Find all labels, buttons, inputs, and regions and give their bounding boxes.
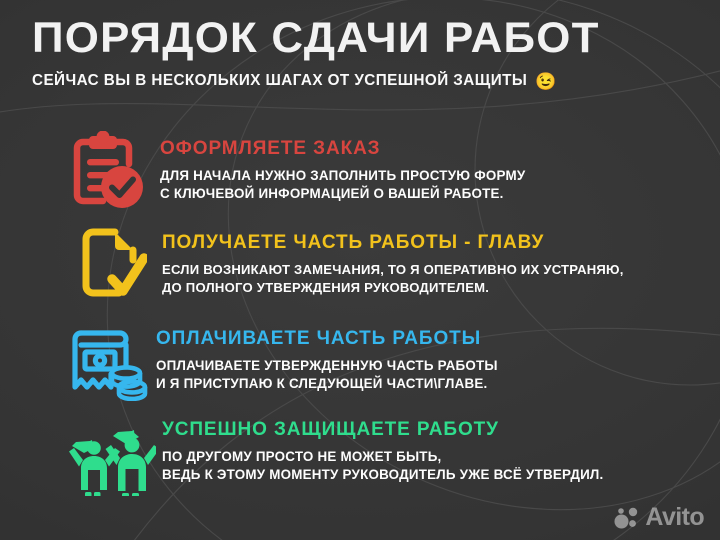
step-line: ДО ПОЛНОГО УТВЕРЖДЕНИЯ РУКОВОДИТЕЛЕМ.	[162, 279, 624, 297]
step-body: УСПЕШНО ЗАЩИЩАЕТЕ РАБОТУ ПО ДРУГОМУ ПРОС…	[162, 416, 603, 483]
clipboard-check-icon	[64, 131, 150, 219]
step-line: И Я ПРИСТУПАЮ К СЛЕДУЮЩЕЙ ЧАСТИ\ГЛАВЕ.	[156, 375, 498, 393]
step-heading: ОФОРМЛЯЕТЕ ЗАКАЗ	[160, 138, 525, 160]
poster-header: ПОРЯДОК СДАЧИ РАБОТ СЕЙЧАС ВЫ В НЕСКОЛЬК…	[32, 14, 688, 90]
step-body: ПОЛУЧАЕТЕ ЧАСТЬ РАБОТЫ - ГЛАВУ ЕСЛИ ВОЗН…	[162, 226, 624, 296]
step-item: ОФОРМЛЯЕТЕ ЗАКАЗ ДЛЯ НАЧАЛА НУЖНО ЗАПОЛН…	[0, 131, 720, 226]
step-heading: ПОЛУЧАЕТЕ ЧАСТЬ РАБОТЫ - ГЛАВУ	[162, 232, 624, 254]
step-heading: ОПЛАЧИВАЕТЕ ЧАСТЬ РАБОТЫ	[156, 328, 498, 350]
step-item: ОПЛАЧИВАЕТЕ ЧАСТЬ РАБОТЫ ОПЛАЧИВАЕТЕ УТВ…	[0, 321, 720, 416]
step-line: ДЛЯ НАЧАЛА НУЖНО ЗАПОЛНИТЬ ПРОСТУЮ ФОРМУ	[160, 167, 525, 185]
subtitle-row: СЕЙЧАС ВЫ В НЕСКОЛЬКИХ ШАГАХ ОТ УСПЕШНОЙ…	[32, 72, 688, 90]
step-item: ПОЛУЧАЕТЕ ЧАСТЬ РАБОТЫ - ГЛАВУ ЕСЛИ ВОЗН…	[0, 226, 720, 321]
winking-face-emoji: 😉	[535, 73, 556, 90]
step-line: ВЕДЬ К ЭТОМУ МОМЕНТУ РУКОВОДИТЕЛЬ УЖЕ ВС…	[162, 466, 603, 484]
step-line: С КЛЮЧЕВОЙ ИНФОРМАЦИЕЙ О ВАШЕЙ РАБОТЕ.	[160, 185, 525, 203]
avito-logo-icon	[614, 507, 640, 529]
promo-poster: ПОРЯДОК СДАЧИ РАБОТ СЕЙЧАС ВЫ В НЕСКОЛЬК…	[0, 0, 720, 540]
step-item: УСПЕШНО ЗАЩИЩАЕТЕ РАБОТУ ПО ДРУГОМУ ПРОС…	[0, 416, 720, 511]
step-line: ОПЛАЧИВАЕТЕ УТВЕРЖДЕННУЮ ЧАСТЬ РАБОТЫ	[156, 357, 498, 375]
receipt-money-icon	[66, 321, 150, 409]
step-body: ОПЛАЧИВАЕТЕ ЧАСТЬ РАБОТЫ ОПЛАЧИВАЕТЕ УТВ…	[156, 321, 498, 392]
step-body: ОФОРМЛЯЕТЕ ЗАКАЗ ДЛЯ НАЧАЛА НУЖНО ЗАПОЛН…	[160, 131, 525, 202]
avito-watermark: Avito	[614, 505, 704, 530]
document-check-icon	[75, 226, 153, 314]
step-heading: УСПЕШНО ЗАЩИЩАЕТЕ РАБОТУ	[162, 419, 603, 441]
avito-watermark-text: Avito	[645, 505, 704, 530]
graduates-icon	[66, 416, 158, 504]
step-line: ЕСЛИ ВОЗНИКАЮТ ЗАМЕЧАНИЯ, ТО Я ОПЕРАТИВН…	[162, 261, 624, 279]
page-subtitle: СЕЙЧАС ВЫ В НЕСКОЛЬКИХ ШАГАХ ОТ УСПЕШНОЙ…	[32, 72, 527, 90]
steps-list: ОФОРМЛЯЕТЕ ЗАКАЗ ДЛЯ НАЧАЛА НУЖНО ЗАПОЛН…	[0, 131, 720, 511]
page-title: ПОРЯДОК СДАЧИ РАБОТ	[32, 14, 701, 63]
step-line: ПО ДРУГОМУ ПРОСТО НЕ МОЖЕТ БЫТЬ,	[162, 448, 603, 466]
